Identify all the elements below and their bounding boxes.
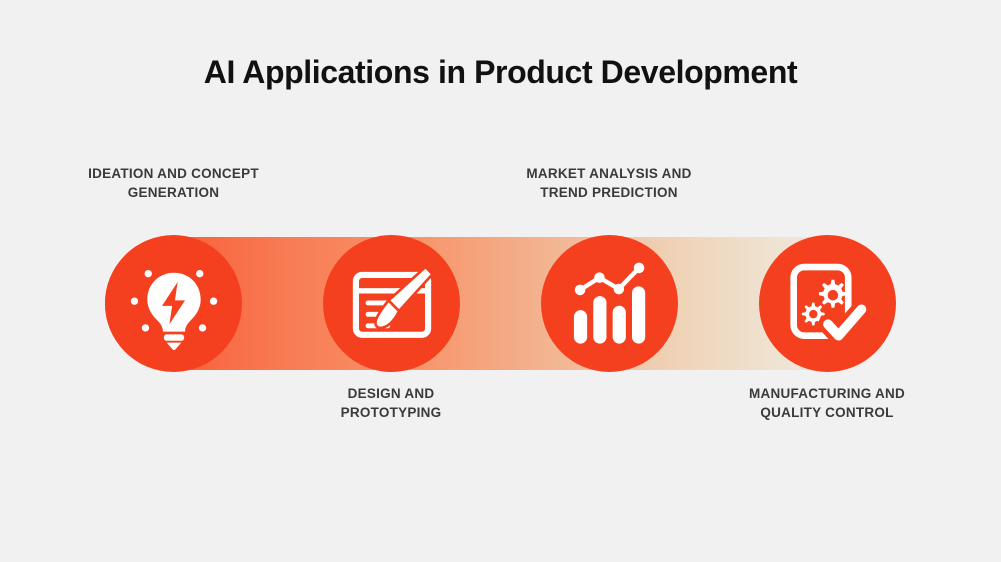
lightbulb-bolt-icon [128,258,220,350]
step-1-label-line-2: GENERATION [27,184,320,203]
step-4-label-line-1: MANUFACTURING AND [701,385,953,404]
process-step-3[interactable]: MARKET ANALYSIS AND TREND PREDICTION [541,235,678,372]
step-3-label-line-1: MARKET ANALYSIS AND [483,165,735,184]
document-gears-check-icon [784,260,872,348]
step-1-circle[interactable] [105,235,242,372]
step-2-circle[interactable] [323,235,460,372]
step-3-label-line-2: TREND PREDICTION [483,184,735,203]
process-step-1[interactable]: IDEATION AND CONCEPT GENERATION [105,235,242,372]
step-3-label: MARKET ANALYSIS AND TREND PREDICTION [483,165,735,202]
slide-canvas: AI Applications in Product Development [0,0,1001,562]
step-2-label-line-2: PROTOTYPING [291,404,491,423]
step-4-circle[interactable] [759,235,896,372]
step-1-label: IDEATION AND CONCEPT GENERATION [27,165,320,202]
window-paintbrush-icon [348,260,436,348]
step-2-label-line-1: DESIGN AND [291,385,491,404]
process-step-2[interactable]: DESIGN AND PROTOTYPING [323,235,460,372]
step-1-label-line-1: IDEATION AND CONCEPT [27,165,320,184]
step-4-label-line-2: QUALITY CONTROL [701,404,953,423]
bar-chart-trend-icon [566,260,654,348]
step-3-circle[interactable] [541,235,678,372]
process-step-4[interactable]: MANUFACTURING AND QUALITY CONTROL [759,235,896,372]
process-steps: IDEATION AND CONCEPT GENERATION [0,0,1001,562]
step-4-label: MANUFACTURING AND QUALITY CONTROL [701,385,953,422]
step-2-label: DESIGN AND PROTOTYPING [291,385,491,422]
